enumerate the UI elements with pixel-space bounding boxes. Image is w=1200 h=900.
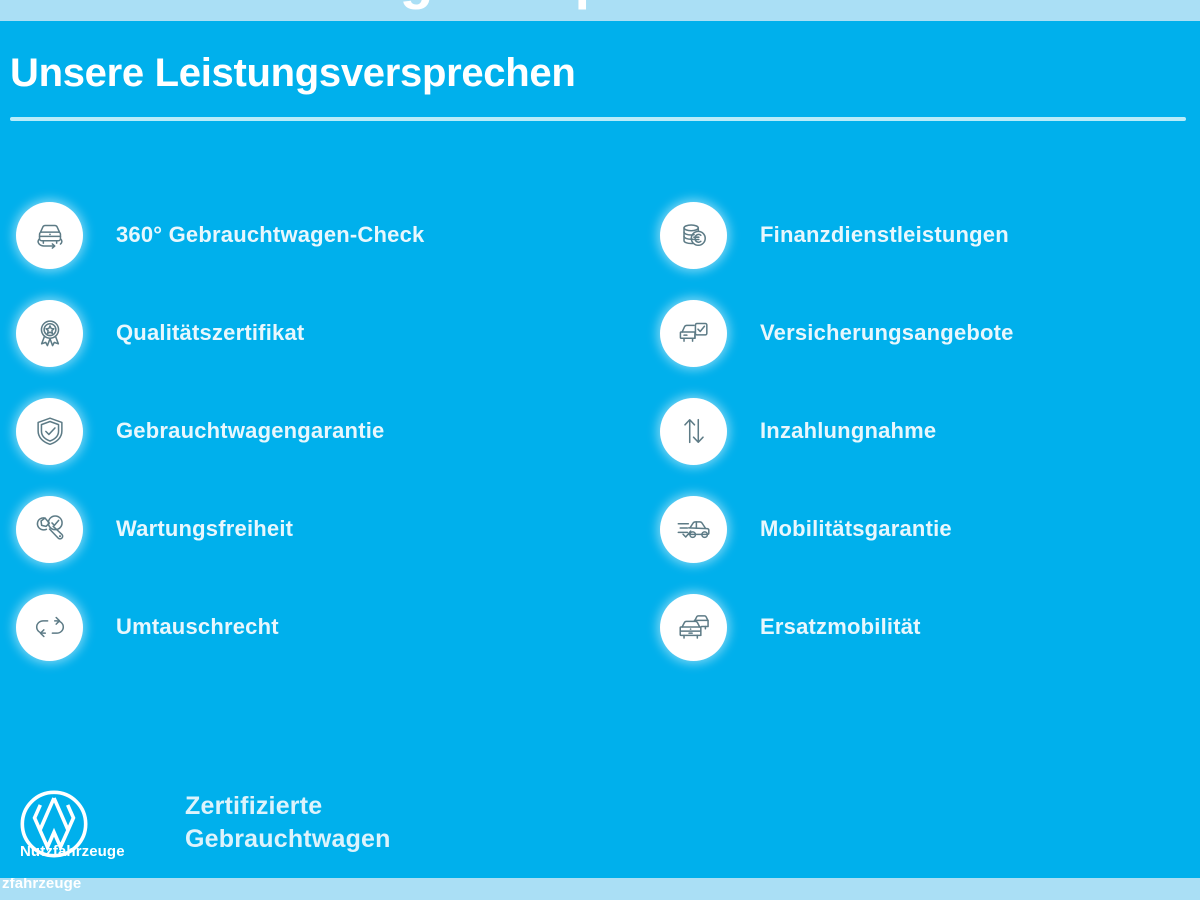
up-down-arrows-icon — [660, 398, 727, 465]
promise-item-finanzdienstleistungen[interactable]: Finanzdienstleistungen — [660, 186, 1180, 284]
promise-label: 360° Gebrauchtwagen-Check — [116, 222, 424, 248]
promise-item-inzahlungnahme[interactable]: Inzahlungnahme — [660, 382, 1180, 480]
promise-grid: 360° Gebrauchtwagen-Check — [0, 186, 1200, 676]
promise-label: Wartungsfreiheit — [116, 516, 293, 542]
wrench-check-icon — [16, 496, 83, 563]
main-panel: Unsere Leistungsversprechen — [0, 21, 1200, 878]
promise-label: Qualitätszertifikat — [116, 320, 304, 346]
promise-item-umtauschrecht[interactable]: Umtauschrecht — [0, 578, 660, 676]
exchange-arrows-icon — [16, 594, 83, 661]
promise-item-wartungsfreiheit[interactable]: Wartungsfreiheit — [0, 480, 660, 578]
promise-label: Umtauschrecht — [116, 614, 279, 640]
brand-sub-label: Nutzfahrzeuge — [20, 843, 125, 860]
promise-label: Mobilitätsgarantie — [760, 516, 952, 542]
brand-claim-line1: Zertifizierte — [185, 792, 322, 820]
promise-item-mobilitaetsgarantie[interactable]: Mobilitätsgarantie — [660, 480, 1180, 578]
promise-item-ersatzmobilitaet[interactable]: Ersatzmobilität — [660, 578, 1180, 676]
page-title: Unsere Leistungsversprechen — [10, 50, 575, 96]
promise-label: Finanzdienstleistungen — [760, 222, 1009, 248]
promise-label: Inzahlungnahme — [760, 418, 936, 444]
promise-label: Versicherungsangebote — [760, 320, 1014, 346]
brand-footer: Zertifizierte Gebrauchtwagen Nutzfahrzeu… — [18, 786, 618, 860]
title-divider — [10, 117, 1186, 121]
brand-claim: Zertifizierte Gebrauchtwagen — [185, 790, 391, 856]
promise-item-360-check[interactable]: 360° Gebrauchtwagen-Check — [0, 186, 660, 284]
promise-item-gebrauchtwagengarantie[interactable]: Gebrauchtwagengarantie — [0, 382, 660, 480]
coins-euro-icon — [660, 202, 727, 269]
shield-check-icon — [16, 398, 83, 465]
car-motion-icon — [660, 496, 727, 563]
car-checkbox-icon — [660, 300, 727, 367]
promise-label: Ersatzmobilität — [760, 614, 921, 640]
slide-root: Unsere Leistungsversprechen zfahrzeuge U… — [0, 0, 1200, 900]
promise-item-qualitaetszertifikat[interactable]: Qualitätszertifikat — [0, 284, 660, 382]
promise-item-versicherungsangebote[interactable]: Versicherungsangebote — [660, 284, 1180, 382]
two-cars-icon — [660, 594, 727, 661]
brand-claim-line2: Gebrauchtwagen — [185, 825, 391, 853]
car-360-check-icon — [16, 202, 83, 269]
promise-label: Gebrauchtwagengarantie — [116, 418, 384, 444]
award-ribbon-icon — [16, 300, 83, 367]
